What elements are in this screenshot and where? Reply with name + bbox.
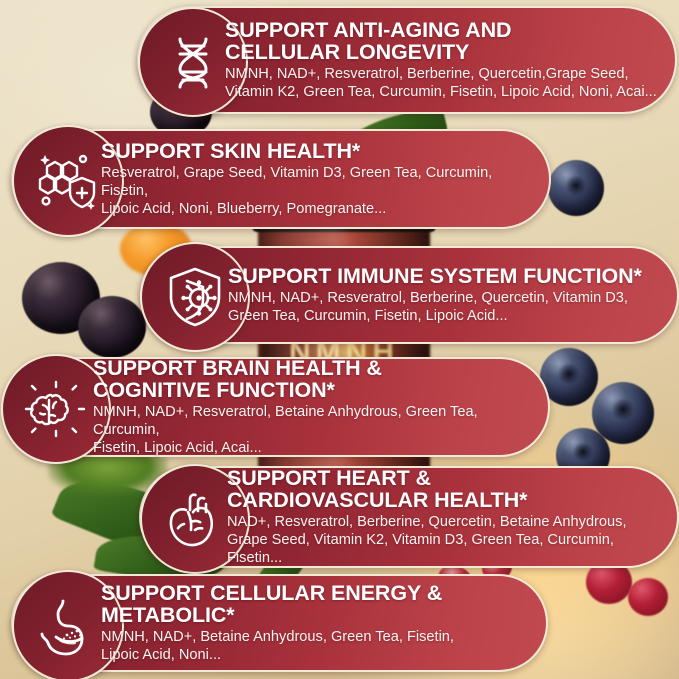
benefit-card-ingredients-line-1: NMNH, NAD+, Resveratrol, Betaine Anhydro… [93, 403, 540, 439]
benefit-card-ingredients-line-1: NMNH, NAD+, Resveratrol, Berberine, Quer… [228, 289, 642, 307]
benefit-card-ingredients-line-1: NMNH, NAD+, Betaine Anhydrous, Green Tea… [101, 628, 454, 646]
benefit-card-text: SUPPORT BRAIN HEALTH & COGNITIVE FUNCTIO… [93, 357, 548, 458]
benefit-card-ingredients-line-1: NMNH, NAD+, Resveratrol, Berberine, Quer… [225, 65, 657, 83]
benefit-card-text: SUPPORT ANTI-AGING AND CELLULAR LONGEVIT… [225, 19, 673, 102]
benefit-card-title-line-1: SUPPORT IMMUNE SYSTEM FUNCTION* [228, 265, 642, 287]
benefit-card-title: SUPPORT SKIN HEALTH* [101, 140, 533, 162]
benefit-card-title: SUPPORT HEART & CARDIOVASCULAR HEALTH* [227, 467, 669, 512]
benefit-card-ingredients-line-2: Vitamin K2, Green Tea, Curcumin, Fisetin… [225, 83, 657, 101]
benefit-card-title-line-1: SUPPORT SKIN HEALTH* [101, 140, 533, 162]
benefit-card-ingredients-line-2: Lipoic Acid, Noni... [101, 646, 454, 664]
benefit-card-text: SUPPORT CELLULAR ENERGY & METABOLIC* NMN… [101, 582, 470, 665]
benefit-card-heart-health[interactable]: SUPPORT HEART & CARDIOVASCULAR HEALTH* N… [139, 466, 679, 568]
benefit-card-ingredients-line-2: Lipoic Acid, Noni, Blueberry, Pomegranat… [101, 200, 533, 218]
benefit-card-ingredients: NMNH, NAD+, Resveratrol, Berberine, Quer… [225, 65, 657, 101]
benefit-card-ingredients-line-2: Grape Seed, Vitamin K2, Vitamin D3, Gree… [227, 531, 669, 567]
benefit-card-title: SUPPORT CELLULAR ENERGY & METABOLIC* [101, 582, 454, 627]
benefit-card-text: SUPPORT HEART & CARDIOVASCULAR HEALTH* N… [227, 467, 677, 568]
benefit-card-title-line-2: COGNITIVE FUNCTION* [93, 379, 540, 401]
benefit-card-title: SUPPORT ANTI-AGING AND CELLULAR LONGEVIT… [225, 19, 657, 64]
benefit-card-title: SUPPORT IMMUNE SYSTEM FUNCTION* [228, 265, 642, 287]
benefit-card-title-line-1: SUPPORT BRAIN HEALTH & [93, 357, 540, 379]
benefit-card-cellular-energy[interactable]: SUPPORT CELLULAR ENERGY & METABOLIC* NMN… [11, 574, 548, 672]
benefit-card-ingredients: NMNH, NAD+, Resveratrol, Betaine Anhydro… [93, 403, 540, 457]
benefit-card-title-line-1: SUPPORT ANTI-AGING AND [225, 19, 657, 41]
infographic-stage: NMNH [0, 0, 679, 679]
benefit-card-skin-health[interactable]: SUPPORT SKIN HEALTH* Resveratrol, Grape … [11, 129, 551, 229]
benefit-card-title: SUPPORT BRAIN HEALTH & COGNITIVE FUNCTIO… [93, 357, 540, 402]
benefit-card-ingredients-line-1: Resveratrol, Grape Seed, Vitamin D3, Gre… [101, 164, 533, 200]
benefit-card-ingredients-line-2: Fisetin, Lipoic Acid, Acai... [93, 439, 540, 457]
benefit-card-ingredients: NAD+, Resveratrol, Berberine, Quercetin,… [227, 513, 669, 567]
benefit-card-ingredients-line-1: NAD+, Resveratrol, Berberine, Quercetin,… [227, 513, 669, 531]
benefit-card-title-line-2: CARDIOVASCULAR HEALTH* [227, 489, 669, 511]
benefit-card-brain-health[interactable]: SUPPORT BRAIN HEALTH & COGNITIVE FUNCTIO… [11, 357, 550, 457]
benefit-card-title-line-1: SUPPORT CELLULAR ENERGY & [101, 582, 454, 604]
benefit-card-anti-aging[interactable]: SUPPORT ANTI-AGING AND CELLULAR LONGEVIT… [137, 6, 677, 114]
benefit-card-ingredients-line-2: Green Tea, Curcumin, Fisetin, Lipoic Aci… [228, 307, 642, 325]
benefit-card-text: SUPPORT SKIN HEALTH* Resveratrol, Grape … [101, 140, 549, 219]
benefit-card-list: SUPPORT ANTI-AGING AND CELLULAR LONGEVIT… [0, 0, 679, 679]
benefit-card-ingredients: NMNH, NAD+, Resveratrol, Berberine, Quer… [228, 289, 642, 325]
benefit-card-title-line-2: CELLULAR LONGEVITY [225, 41, 657, 63]
benefit-card-ingredients: Resveratrol, Grape Seed, Vitamin D3, Gre… [101, 164, 533, 218]
benefit-card-title-line-1: SUPPORT HEART & [227, 467, 669, 489]
benefit-card-immune-system[interactable]: SUPPORT IMMUNE SYSTEM FUNCTION* NMNH, NA… [140, 246, 679, 344]
benefit-card-text: SUPPORT IMMUNE SYSTEM FUNCTION* NMNH, NA… [228, 265, 652, 326]
benefit-card-ingredients: NMNH, NAD+, Betaine Anhydrous, Green Tea… [101, 628, 454, 664]
benefit-card-title-line-2: METABOLIC* [101, 604, 454, 626]
